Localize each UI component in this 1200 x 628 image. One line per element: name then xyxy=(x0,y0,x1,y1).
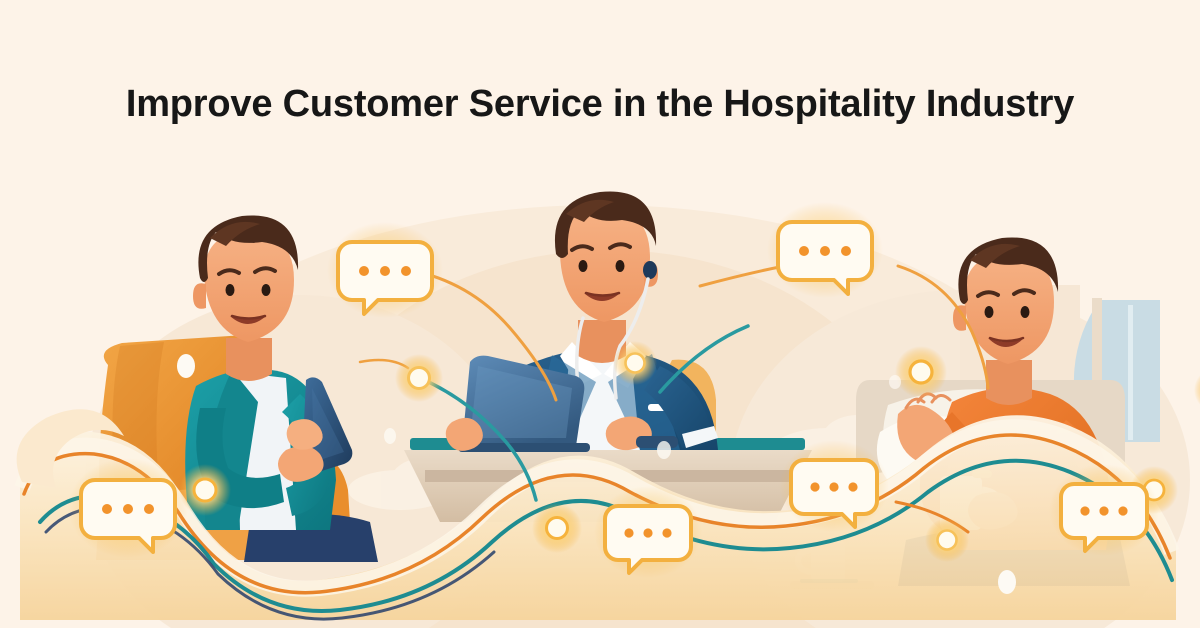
window-mullion xyxy=(1128,305,1133,440)
node-c xyxy=(895,346,947,398)
node-a xyxy=(395,354,443,402)
agent-tablet-base xyxy=(636,436,678,448)
node-b xyxy=(613,341,657,385)
node-g xyxy=(925,518,969,562)
guest-left-neck xyxy=(226,338,272,381)
chat-bubble-left-lower[interactable] xyxy=(68,458,188,558)
chat-bubble-far-right[interactable] xyxy=(1049,464,1159,556)
chat-bubble-left-upper[interactable] xyxy=(327,222,443,318)
page-title: Improve Customer Service in the Hospital… xyxy=(0,83,1200,126)
guest-left-ear xyxy=(193,283,206,309)
guest-right-neck xyxy=(986,360,1032,405)
illustration-svg xyxy=(0,150,1200,628)
chat-bubble-center-lower[interactable] xyxy=(594,486,702,578)
banner-root: Improve Customer Service in the Hospital… xyxy=(0,0,1200,628)
illustration-canvas xyxy=(0,150,1200,628)
node-d xyxy=(1194,368,1200,412)
node-f xyxy=(532,503,582,553)
chat-bubble-mid-right[interactable] xyxy=(779,440,889,532)
chat-bubble-right-upper[interactable] xyxy=(767,202,883,298)
